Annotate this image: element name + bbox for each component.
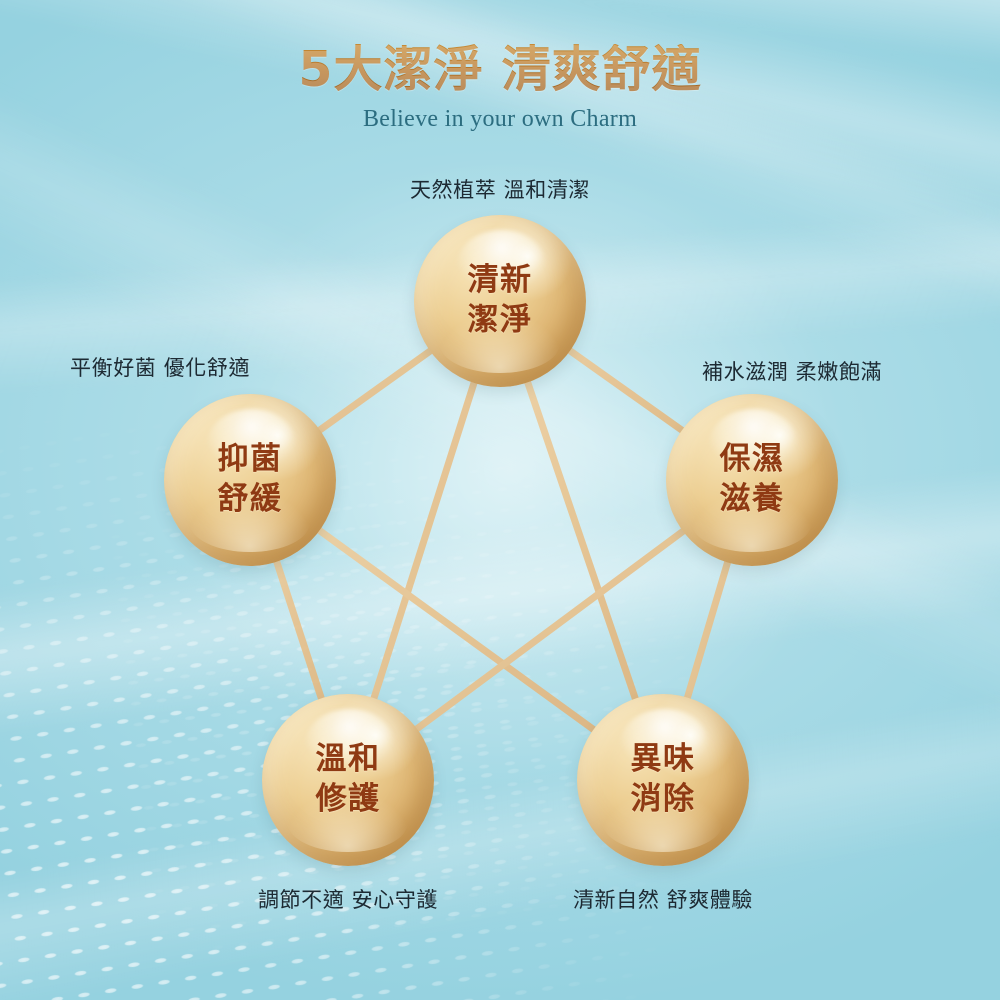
poster-canvas: 5大潔淨 清爽舒適 Believe in your own Charm [0, 0, 1000, 1000]
node-bubble-right[interactable]: 保濕 滋養 [666, 394, 838, 566]
node-label-right-line2: 滋養 [720, 480, 785, 520]
node-label-bottom-right-line1: 異味 [631, 740, 696, 780]
node-bubble-top[interactable]: 清新 潔淨 [414, 215, 586, 387]
node-label-left-line1: 抑菌 [218, 440, 283, 480]
pentagon-diagram: 清新 潔淨 抑菌 舒緩 保濕 滋養 溫和 修護 異味 消除 [0, 0, 1000, 1000]
node-label-bottom-left-line2: 修護 [316, 780, 381, 820]
caption-left: 平衡好菌 優化舒適 [70, 352, 250, 382]
node-label-top-line1: 清新 [468, 261, 533, 301]
caption-right: 補水滋潤 柔嫩飽滿 [702, 356, 882, 386]
node-bubble-left[interactable]: 抑菌 舒緩 [164, 394, 336, 566]
node-label-left-line2: 舒緩 [218, 480, 283, 520]
node-label-top-line2: 潔淨 [468, 301, 533, 341]
node-label-right-line1: 保濕 [720, 440, 785, 480]
node-label-bottom-right-line2: 消除 [631, 780, 696, 820]
caption-bottom-left: 調節不適 安心守護 [258, 884, 438, 914]
poster-header: 5大潔淨 清爽舒適 Believe in your own Charm [0, 44, 1000, 133]
node-bubble-bottom-left[interactable]: 溫和 修護 [262, 694, 434, 866]
page-title: 5大潔淨 清爽舒適 [0, 44, 1000, 97]
node-bubble-bottom-right[interactable]: 異味 消除 [577, 694, 749, 866]
caption-bottom-right: 清新自然 舒爽體驗 [573, 884, 753, 914]
caption-top: 天然植萃 溫和清潔 [410, 174, 590, 204]
page-subtitle: Believe in your own Charm [0, 106, 1000, 133]
node-label-bottom-left-line1: 溫和 [316, 740, 381, 780]
